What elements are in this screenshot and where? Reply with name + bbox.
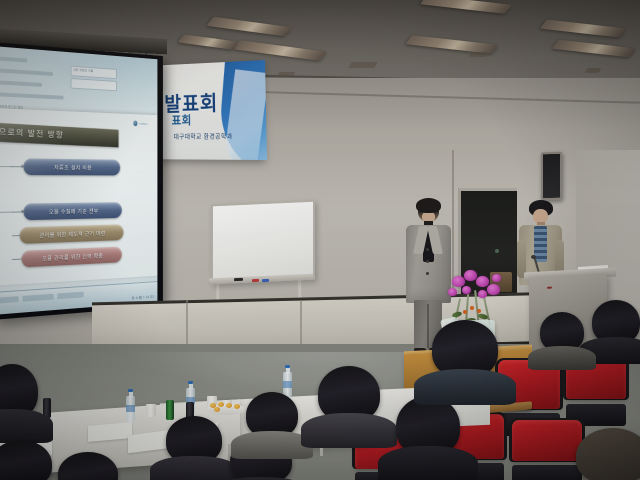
- whiteboard-marker[interactable]: [262, 279, 269, 282]
- ceiling-light-fixture: [233, 40, 328, 61]
- hair: [416, 198, 441, 213]
- fruit-piece: [218, 402, 224, 407]
- seat-cushion: [512, 465, 582, 480]
- taskbar-tray: 한 A 般 ﾂ 14:32: [132, 294, 154, 300]
- taskbar-button[interactable]: [0, 296, 19, 303]
- door-indicator-light: [495, 249, 499, 253]
- slide-logo: mokpo: [133, 120, 148, 127]
- app-row: [0, 80, 42, 86]
- audience-member: [540, 312, 584, 352]
- app-row: [0, 68, 53, 75]
- bottle-cap: [285, 365, 290, 368]
- whiteboard[interactable]: [211, 200, 315, 285]
- fruit-piece: [214, 407, 220, 412]
- app-input-field[interactable]: [71, 78, 117, 91]
- seat-back: [512, 420, 582, 461]
- slide-box: 관리를 위한 제도적 근거 마련: [20, 224, 124, 244]
- projection-surface: 인천 학번의 기록 관리자 로그인 정보 확인 mokpo 으로의 발전 방향: [0, 46, 157, 315]
- photo-scene: 발표회 표회 대구대학교 환경공학과 인천 학번의 기록 관리자 로그인 정보 …: [0, 0, 640, 480]
- whiteboard-marker[interactable]: [252, 279, 259, 282]
- whiteboard-eraser[interactable]: [234, 278, 243, 281]
- logo-mark-icon: [133, 120, 137, 126]
- ceiling-light-fixture: [178, 34, 239, 49]
- microphone-icon: [531, 255, 536, 259]
- audience-member: [166, 416, 222, 464]
- logo-text: mokpo: [139, 121, 147, 125]
- app-row: [0, 92, 64, 99]
- ceiling-vent: [348, 62, 377, 68]
- banner-subtitle: 표회: [171, 112, 191, 129]
- fruit-piece: [226, 403, 232, 408]
- orchid-bloom: [478, 290, 487, 298]
- ceiling-light-fixture: [540, 20, 626, 38]
- berry-accent: [470, 306, 474, 310]
- fruit-piece: [234, 404, 240, 409]
- coat-button: [426, 260, 429, 263]
- shoulders: [150, 456, 237, 480]
- cabinet-divider: [300, 300, 302, 348]
- coat-button: [426, 272, 429, 275]
- audience-member: [592, 300, 640, 344]
- podium-control-button[interactable]: [547, 287, 552, 289]
- wall-speaker-icon: [541, 152, 562, 201]
- diagram-arrow-icon: [12, 211, 23, 212]
- berry-accent: [477, 309, 481, 313]
- slide-box: 오물 관리를 위한 인력 확충: [22, 247, 122, 268]
- water-bottle[interactable]: [126, 396, 135, 422]
- bottle-cap: [128, 389, 133, 392]
- ceiling-light-fixture: [420, 0, 512, 14]
- trouser-seam: [427, 304, 429, 348]
- event-banner: 발표회 표회 대구대학교 환경공학과: [159, 60, 267, 160]
- diagram-arrow-icon: [10, 166, 23, 167]
- audience-member: [318, 366, 380, 422]
- orchid-bloom: [452, 276, 465, 287]
- orchid-bloom: [492, 274, 501, 282]
- audience-member: [432, 320, 498, 378]
- diagram-connector: [0, 212, 13, 261]
- app-row: [0, 57, 27, 63]
- shoulders: [301, 413, 398, 448]
- berry-accent: [463, 310, 467, 314]
- audience-member: [0, 440, 52, 480]
- presentation-slide: mokpo 으로의 발전 방향 저류조 설치 비용 오물 수질에 기준 전부 관…: [0, 108, 157, 286]
- taskbar-button[interactable]: [57, 292, 83, 300]
- hair: [0, 440, 52, 480]
- ceiling-light-fixture: [206, 17, 291, 36]
- orchid-bloom: [462, 286, 471, 294]
- cabinet-divider: [186, 300, 188, 348]
- banner-affiliation: 대구대학교 환경공학과: [174, 130, 233, 140]
- audience-member: [396, 396, 460, 456]
- coat-button: [426, 248, 429, 251]
- ceiling-vent: [277, 72, 296, 77]
- ceiling-light-fixture: [552, 40, 637, 58]
- hair: [58, 452, 118, 480]
- ceiling-vent: [585, 68, 602, 73]
- auditorium-seat[interactable]: [512, 420, 582, 480]
- projection-screen: 인천 학번의 기록 관리자 로그인 정보 확인 mokpo 으로의 발전 방향: [0, 42, 163, 320]
- slide-box: 오물 수질에 기준 전부: [23, 202, 121, 220]
- orchid-bloom: [464, 270, 477, 281]
- paper-cup[interactable]: [146, 404, 156, 417]
- shoulders: [528, 346, 597, 371]
- shoulders: [414, 369, 517, 405]
- shoulders: [0, 409, 53, 442]
- audience-member: [246, 392, 298, 438]
- shoulders: [378, 446, 478, 480]
- orchid-bloom: [448, 288, 457, 296]
- audience-member: [58, 452, 118, 480]
- orchid-bloom: [487, 284, 500, 295]
- audience-member: [576, 428, 640, 480]
- orchid-bloom: [476, 276, 489, 287]
- taskbar-button[interactable]: [22, 294, 53, 302]
- slide-box: 저류조 설치 비용: [23, 158, 120, 175]
- audience-member: [0, 364, 38, 418]
- ceiling-vent: [469, 52, 488, 57]
- hair: [576, 428, 640, 480]
- bottle-cap: [188, 381, 193, 384]
